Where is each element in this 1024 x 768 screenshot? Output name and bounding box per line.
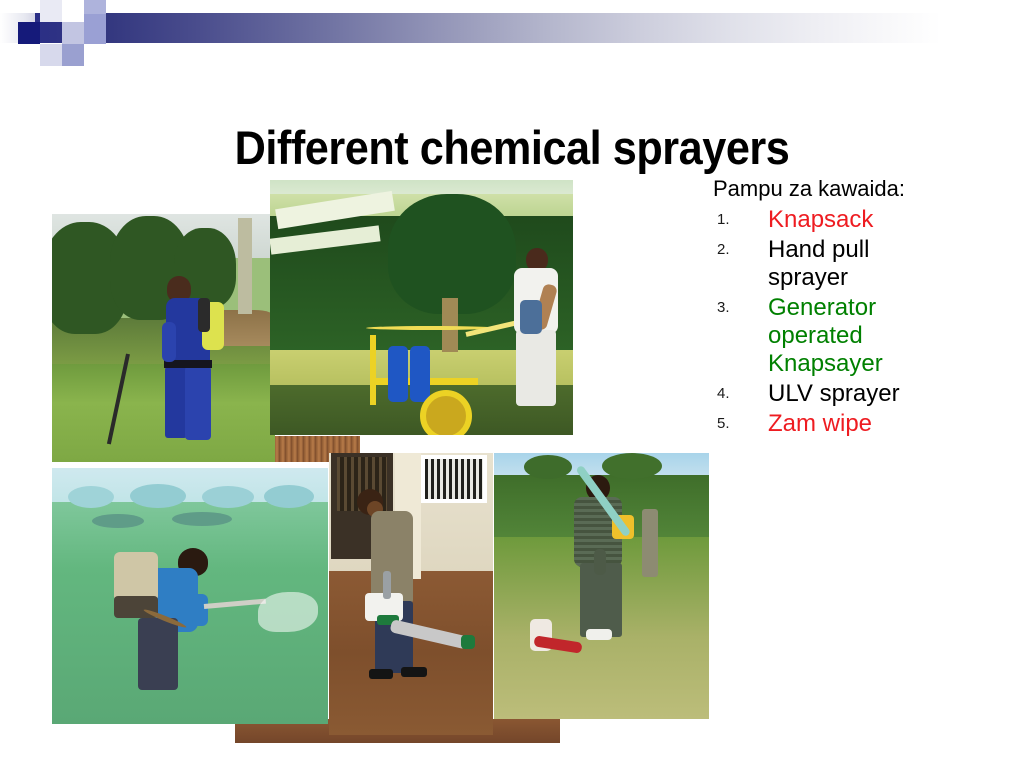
deco-square-mid-a xyxy=(62,22,84,44)
list-item-label: Knapsack xyxy=(768,206,873,233)
deco-square-white xyxy=(62,0,84,22)
photo3-bush-a xyxy=(92,514,144,528)
list-item-number: 4. xyxy=(717,385,730,403)
photo3-distant-tree-c xyxy=(202,486,254,508)
photo-generator-knapsack xyxy=(52,468,328,724)
photo3-distant-tree-b xyxy=(130,484,186,508)
photo5-fence-post xyxy=(642,509,658,577)
photo3-spray-mist xyxy=(258,592,318,632)
sprayer-list-panel: Pampu za kawaida: 1. Knapsack 2. Hand pu… xyxy=(713,176,1013,440)
photo4-window-bars xyxy=(425,459,483,499)
photo1-grass xyxy=(52,364,275,462)
deco-square-pale-a xyxy=(40,0,62,22)
list-item-label: Generator operated Knapsayer xyxy=(768,294,883,377)
photo4-handle-rod xyxy=(383,571,391,599)
list-item-label: ULV sprayer xyxy=(768,380,900,407)
photo2-cart-tank-left xyxy=(388,346,408,402)
photo-knapsack-woman xyxy=(52,214,275,462)
page-title: Different chemical sprayers xyxy=(41,123,983,172)
photo1-leg-back xyxy=(165,366,187,438)
photo-ulv-sprayer xyxy=(329,453,493,735)
list-item-number: 2. xyxy=(717,241,730,259)
photo3-generator-knapsack-unit xyxy=(114,552,158,602)
photo2-trousers xyxy=(516,330,556,406)
photo1-leg-front xyxy=(185,366,211,440)
header-gradient-band xyxy=(35,13,941,43)
photo1-pole xyxy=(238,218,252,314)
photo1-arm xyxy=(162,322,176,362)
photo2-cart-upright xyxy=(370,335,376,405)
photo4-shoe-left xyxy=(369,669,393,679)
slide-canvas: Different chemical sprayers Pampu za kaw… xyxy=(0,0,1024,768)
photo1-knapsack-strap xyxy=(198,298,210,332)
photo5-tree-b xyxy=(602,453,662,479)
photo3-distant-tree-d xyxy=(264,485,314,508)
list-lead-label: Pampu za kawaida: xyxy=(713,176,1013,203)
photo4-shoe-right xyxy=(401,667,427,677)
list-item-knapsack[interactable]: 1. Knapsack xyxy=(713,206,1013,234)
list-item-number: 3. xyxy=(717,299,730,317)
list-item-number: 1. xyxy=(717,211,730,229)
photo3-legs xyxy=(138,618,178,690)
list-item-hand-pull-sprayer[interactable]: 2. Hand pull sprayer xyxy=(713,236,948,292)
photo2-cart-wheel xyxy=(420,390,472,435)
photo2-large-tree-canopy xyxy=(388,194,516,314)
photo3-distant-tree-a xyxy=(68,486,114,508)
list-item-label: Hand pull sprayer xyxy=(768,236,869,291)
deco-square-dark xyxy=(18,22,40,44)
photo4-overcoat xyxy=(371,511,413,603)
list-item-label: Zam wipe xyxy=(768,410,872,437)
photo3-arm xyxy=(192,594,208,626)
photo5-arm xyxy=(594,549,606,575)
photo-hand-pull-sprayer-cart xyxy=(270,180,573,435)
list-item-generator-operated-knapsayer[interactable]: 3. Generator operated Knapsayer xyxy=(713,294,968,378)
deco-square-corner xyxy=(106,0,120,13)
sprayer-list: 1. Knapsack 2. Hand pull sprayer 3. Gene… xyxy=(713,206,1013,439)
deco-square-white-b xyxy=(84,44,106,66)
photo2-shadow-patch xyxy=(520,300,542,334)
deco-square-mid-c xyxy=(84,14,106,44)
photo5-tree-a xyxy=(524,455,572,479)
list-item-number: 5. xyxy=(717,415,730,433)
photo4-ulv-nozzle xyxy=(461,635,475,649)
photo5-shoes xyxy=(586,629,612,640)
photo3-bush-b xyxy=(172,512,232,526)
deco-square-top xyxy=(84,0,106,14)
list-item-ulv-sprayer[interactable]: 4. ULV sprayer xyxy=(713,380,1013,408)
photo2-tree-trunk xyxy=(442,298,458,352)
deco-square-pale-b xyxy=(40,44,62,66)
photo-zam-wipe xyxy=(494,453,709,719)
deco-square-mid-b xyxy=(62,44,84,66)
photo2-cart-tank-right xyxy=(410,346,430,402)
list-item-zam-wipe[interactable]: 5. Zam wipe xyxy=(713,410,1013,438)
